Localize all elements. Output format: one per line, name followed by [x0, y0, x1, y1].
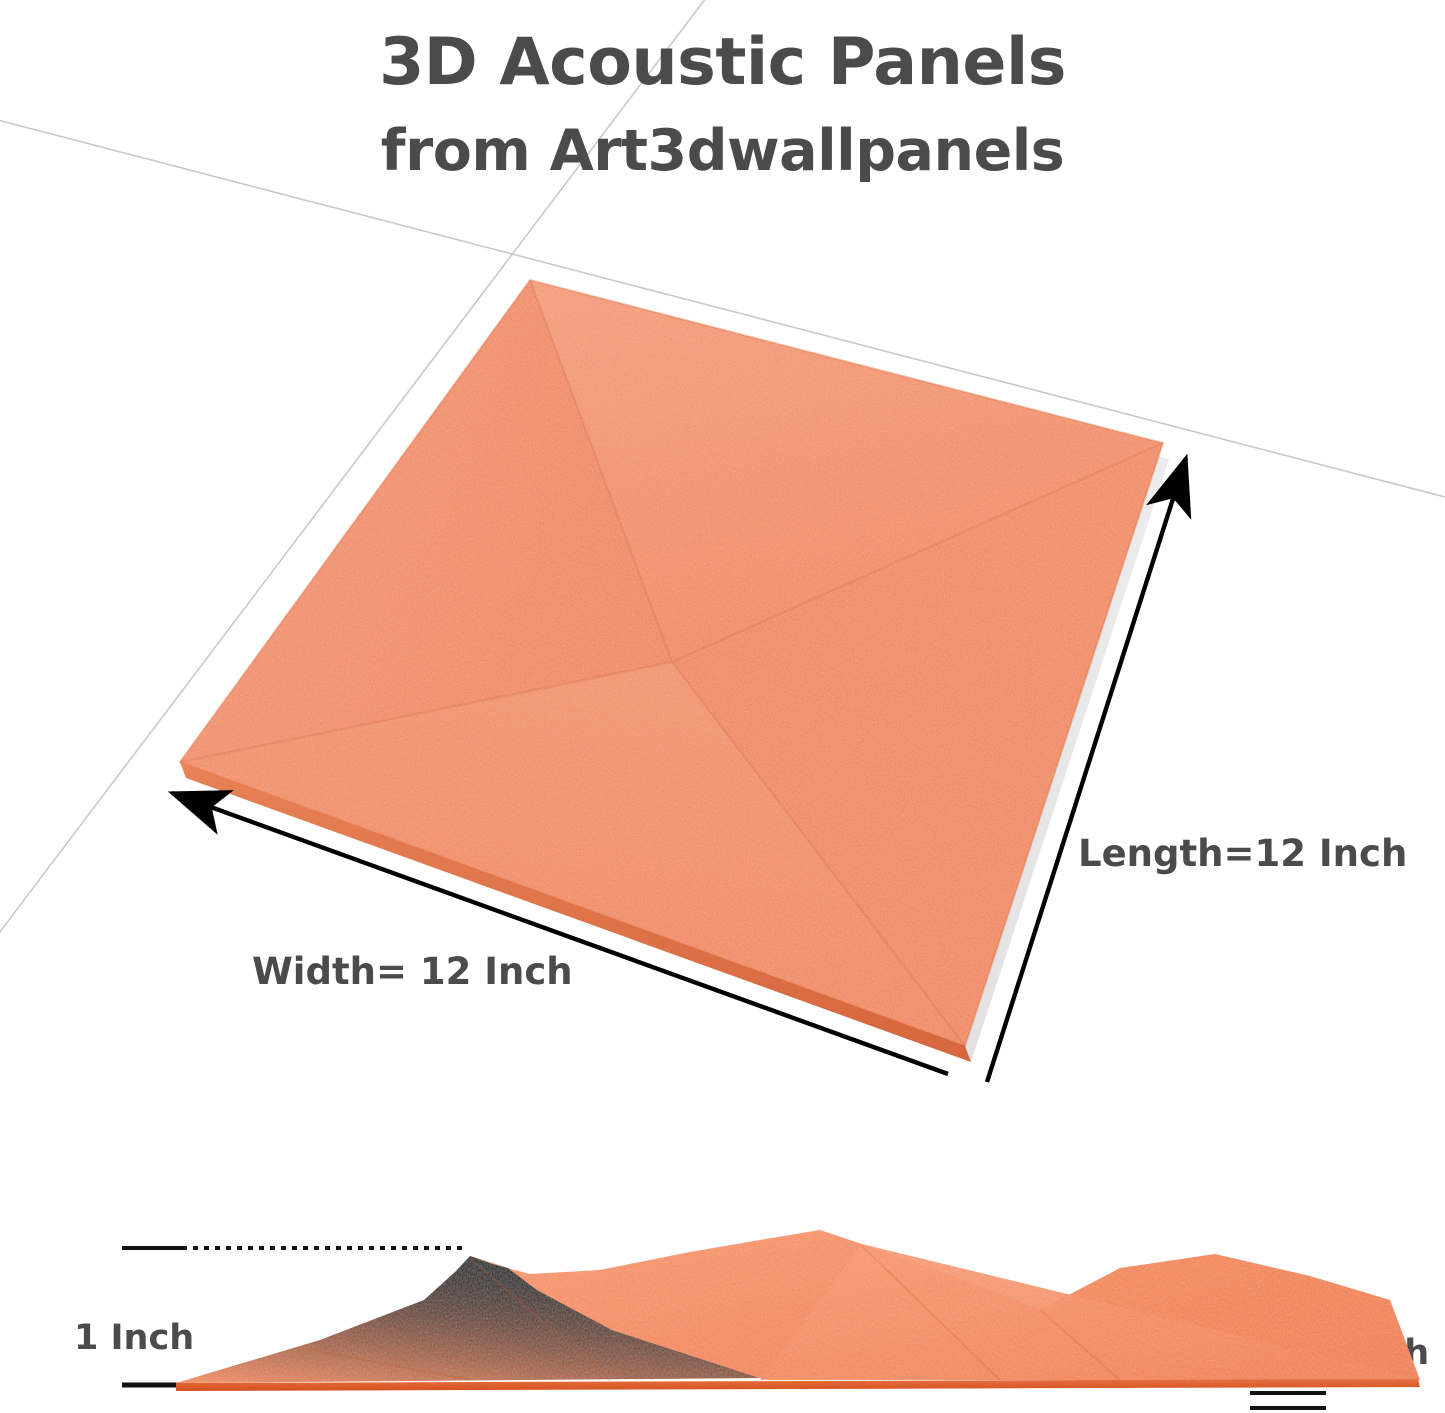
length-dimension-label: Length=12 Inch	[1078, 832, 1407, 875]
product-spec-image: 3D Acoustic Panels from Art3dwallpanels	[0, 0, 1445, 1413]
thin-edge-indicator	[1250, 1393, 1326, 1408]
panel-side-profile-view	[0, 1180, 1445, 1413]
width-dimension-label: Width= 12 Inch	[252, 950, 573, 993]
panel-top-view	[0, 0, 1445, 1120]
